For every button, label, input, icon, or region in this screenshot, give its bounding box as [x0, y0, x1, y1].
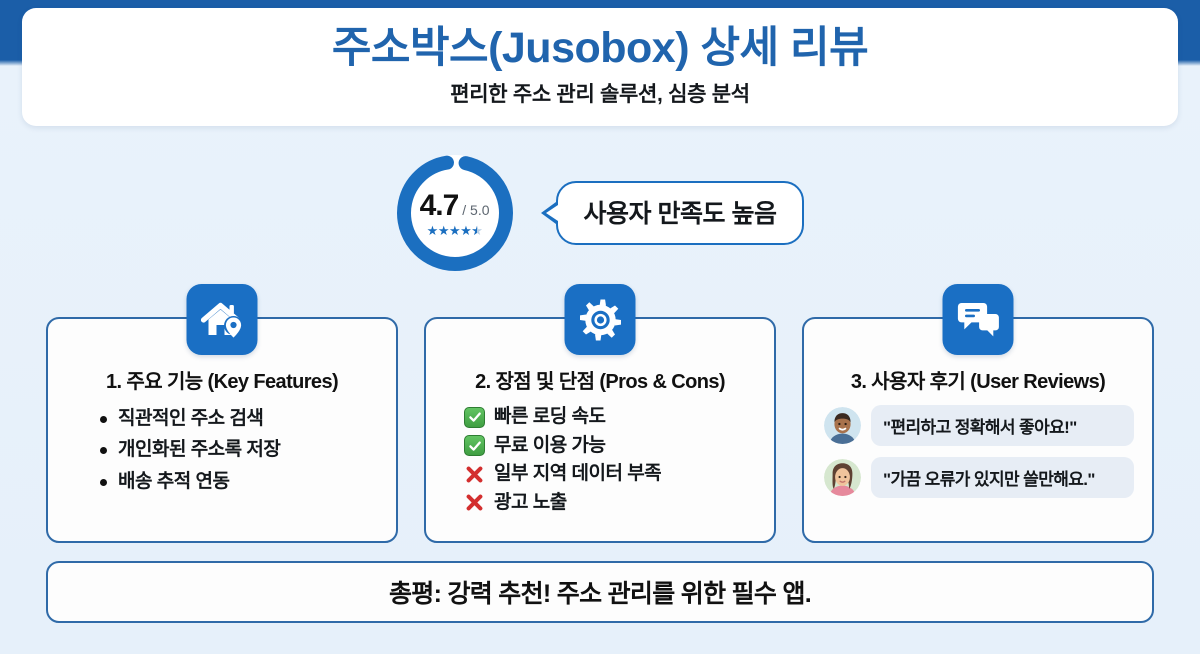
list-item: "편리하고 정확해서 좋아요!" — [824, 405, 1134, 446]
list-item: "가끔 오류가 있지만 쓸만해요." — [824, 457, 1134, 498]
star-icon: ★ — [449, 224, 460, 237]
cross-icon — [464, 464, 485, 485]
page-title: 주소박스(Jusobox) 상세 리뷰 — [332, 26, 868, 71]
feature-list: 직관적인 주소 검색 개인화된 주소록 저장 배송 추적 연동 — [64, 403, 380, 497]
check-icon — [464, 407, 485, 428]
chat-bubbles-icon — [943, 284, 1014, 355]
gear-icon — [565, 284, 636, 355]
star-icon: ★ — [427, 224, 438, 237]
list-item-label: 빠른 로딩 속도 — [494, 403, 605, 432]
page-subtitle: 편리한 주소 관리 솔루션, 심층 분석 — [450, 78, 750, 108]
summary-text: 총평: 강력 추천! 주소 관리를 위한 필수 앱. — [389, 574, 811, 610]
list-item: 직관적인 주소 검색 — [100, 403, 380, 434]
check-icon — [464, 435, 485, 456]
review-quote: "편리하고 정확해서 좋아요!" — [871, 405, 1134, 446]
review-list: "편리하고 정확해서 좋아요!" "가끔 오류가 있지만 쓸만해요." — [820, 403, 1136, 498]
rating-max: / 5.0 — [462, 202, 489, 218]
callout-label: 사용자 만족도 높음 — [584, 200, 777, 228]
review-quote: "가끔 오류가 있지만 쓸만해요." — [871, 457, 1134, 498]
cross-icon — [464, 492, 485, 513]
rating-section: 4.7 / 5.0 ★ ★ ★ ★ ★★ 사용자 만족도 높음 — [0, 148, 1200, 278]
card-pros-cons[interactable]: 2. 장점 및 단점 (Pros & Cons) 빠른 로딩 속도 무료 이용 … — [424, 317, 776, 543]
list-item-con: 광고 노출 — [464, 489, 758, 518]
list-item: 배송 추적 연동 — [100, 466, 380, 497]
avatar-female-icon — [824, 459, 861, 496]
list-item-pro: 무료 이용 가능 — [464, 432, 758, 461]
header-card: 주소박스(Jusobox) 상세 리뷰 편리한 주소 관리 솔루션, 심층 분석 — [22, 8, 1178, 126]
rating-donut: 4.7 / 5.0 ★ ★ ★ ★ ★★ — [396, 154, 514, 272]
card-user-reviews[interactable]: 3. 사용자 후기 (User Reviews) "편리하고 정확해서 좋아요!… — [802, 317, 1154, 543]
list-item-label: 일부 지역 데이터 부족 — [494, 460, 661, 489]
list-item: 개인화된 주소록 저장 — [100, 434, 380, 465]
satisfaction-callout: 사용자 만족도 높음 — [556, 181, 805, 245]
half-star-icon: ★★ — [471, 224, 482, 237]
pros-cons-list: 빠른 로딩 속도 무료 이용 가능 일부 지역 데이터 부족 — [442, 403, 758, 517]
avatar-male-icon — [824, 407, 861, 444]
summary-bar: 총평: 강력 추천! 주소 관리를 위한 필수 앱. — [46, 561, 1154, 623]
list-item-label: 광고 노출 — [494, 489, 567, 518]
star-rating: ★ ★ ★ ★ ★★ — [427, 224, 483, 237]
star-icon: ★ — [438, 224, 449, 237]
cards-row: 1. 주요 기능 (Key Features) 직관적인 주소 검색 개인화된 … — [46, 317, 1154, 543]
card-title: 3. 사용자 후기 (User Reviews) — [820, 365, 1136, 394]
house-pin-icon — [187, 284, 258, 355]
list-item-pro: 빠른 로딩 속도 — [464, 403, 758, 432]
list-item-label: 무료 이용 가능 — [494, 432, 605, 461]
card-key-features[interactable]: 1. 주요 기능 (Key Features) 직관적인 주소 검색 개인화된 … — [46, 317, 398, 543]
list-item-con: 일부 지역 데이터 부족 — [464, 460, 758, 489]
rating-score: 4.7 — [420, 189, 459, 223]
star-icon: ★ — [460, 224, 471, 237]
card-title: 1. 주요 기능 (Key Features) — [64, 365, 380, 394]
rating-value-row: 4.7 / 5.0 — [420, 189, 490, 223]
card-title: 2. 장점 및 단점 (Pros & Cons) — [442, 365, 758, 394]
